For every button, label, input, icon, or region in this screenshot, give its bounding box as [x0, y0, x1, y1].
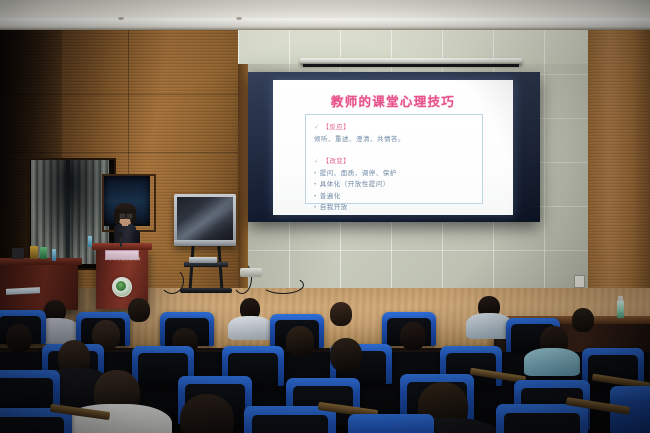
slide-line: 倾听、重述、澄清、共情答。 [314, 133, 478, 143]
slide-bullet-text: 普遍化 [320, 193, 341, 200]
podium-placard-text: 中小学心理健康教育 [105, 257, 139, 262]
seat-cushion [252, 415, 328, 433]
light-switch[interactable] [574, 275, 585, 288]
slide-bullet: •自我开放 [314, 201, 478, 211]
microphone-stem [120, 236, 122, 247]
bullet-dot-icon: • [314, 204, 317, 211]
cable [232, 262, 252, 294]
table-item [30, 246, 38, 259]
table-item [40, 247, 47, 259]
audience-seating [0, 296, 650, 433]
presentation-slide: 教师的课堂心理技巧 ✓【反应】 倾听、重述、澄清、共情答。 ✓【改变】 •提问、… [273, 80, 513, 215]
attendee-head [400, 322, 426, 350]
seat-cushion [504, 413, 580, 433]
seat[interactable] [348, 414, 434, 433]
tv-stand-base [180, 288, 232, 293]
check-icon: ✓ [314, 159, 319, 165]
ceiling-spot-icon [236, 17, 242, 20]
slide-title: 教师的课堂心理技巧 [273, 91, 513, 110]
slide-content-box: ✓【反应】 倾听、重述、澄清、共情答。 ✓【改变】 •提问、面质、调停、保护 •… [305, 114, 483, 204]
wood-seam [0, 94, 238, 95]
wood-divider-strip [238, 30, 248, 298]
water-bottle [88, 236, 92, 247]
attendee-head [180, 394, 234, 433]
podium-top-surface [92, 243, 152, 250]
slide-group-heading: ✓【改变】 [314, 155, 478, 165]
slide-bullet-text: 自我开放 [320, 204, 348, 211]
lecture-hall-photo: 教师的课堂心理技巧 ✓【反应】 倾听、重述、澄清、共情答。 ✓【改变】 •提问、… [0, 0, 650, 433]
eyeglasses-icon [119, 213, 126, 219]
slide-group-change: ✓【改变】 •提问、面质、调停、保护 •具体化（开放性提问） •普遍化 •自我开… [314, 155, 478, 211]
slide-bullet-text: 具体化（开放性提问） [320, 181, 390, 188]
slide-bullet-text: 提问、面质、调停、保护 [320, 170, 397, 177]
screen-housing-slot [303, 64, 519, 67]
whiteboard-bezel [174, 240, 236, 246]
slide-bullet: •提问、面质、调停、保护 [314, 167, 478, 177]
slide-heading-text: 【改变】 [322, 158, 350, 165]
bullet-dot-icon: • [314, 193, 317, 200]
attendee-head [6, 324, 32, 352]
whiteboard-glare [177, 197, 233, 240]
attendee-head [572, 308, 594, 332]
attendee-head [286, 326, 314, 356]
cable [262, 276, 304, 294]
cable [160, 268, 184, 294]
bullet-dot-icon: • [314, 170, 317, 177]
bullet-dot-icon: • [314, 181, 317, 188]
attendee-shoulder [228, 316, 272, 340]
slide-group-reaction: ✓【反应】 倾听、重述、澄清、共情答。 [314, 121, 478, 143]
attendee-head [330, 338, 362, 372]
wood-wall-right [588, 30, 650, 298]
projector-unit [240, 268, 262, 277]
blinds-center-pole [66, 160, 70, 264]
slide-bullet: •普遍化 [314, 190, 478, 200]
media-player-box [189, 257, 217, 263]
table-item [12, 248, 24, 259]
slide-group-heading: ✓【反应】 [314, 121, 478, 131]
attendee-head [330, 302, 352, 326]
eyeglasses-icon [126, 213, 133, 219]
check-icon: ✓ [314, 125, 319, 131]
attendee-head [128, 298, 150, 322]
attendee-shoulder [524, 348, 580, 376]
ceiling-spot-icon [118, 17, 124, 20]
slide-heading-text: 【反应】 [322, 124, 350, 131]
school-crest-inner [116, 281, 126, 291]
slide-bullet: •具体化（开放性提问） [314, 178, 478, 188]
side-table-left-top [0, 258, 82, 265]
water-bottle [52, 249, 56, 261]
wood-seam [0, 152, 238, 153]
seat-cushion [0, 417, 64, 433]
microphone-icon [117, 232, 123, 237]
